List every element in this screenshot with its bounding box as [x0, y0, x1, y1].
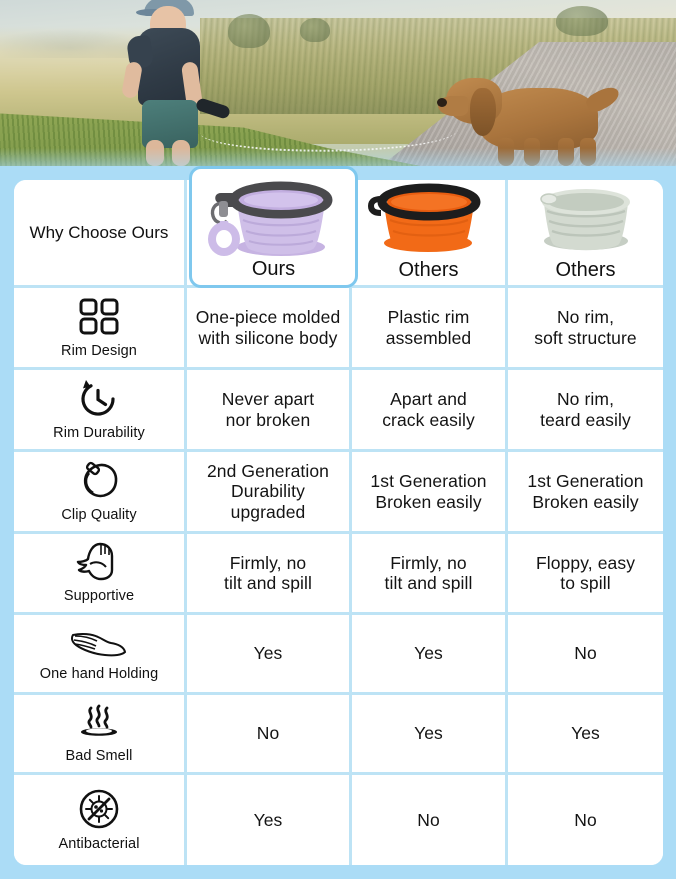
- value-text: Yes: [414, 723, 443, 743]
- value-text: Firmly, notilt and spill: [385, 553, 473, 594]
- value-cell: Firmly, notilt and spill: [187, 534, 352, 615]
- value-cell: One-piece moldedwith silicone body: [187, 288, 352, 370]
- value-text: 2nd GenerationDurabilityupgraded: [207, 461, 329, 522]
- photo-bottom-fade: [0, 148, 676, 166]
- value-text: 1st GenerationBroken easily: [527, 471, 643, 512]
- header-column-others-2: Others: [508, 180, 663, 288]
- value-cell: No: [508, 615, 663, 695]
- flexed-bicep-icon: [76, 542, 122, 582]
- value-cell: No rim,teard easily: [508, 370, 663, 452]
- value-cell: Yes: [187, 615, 352, 695]
- value-text: No: [574, 643, 597, 663]
- column-label: Ours: [252, 258, 295, 281]
- tree: [556, 6, 608, 36]
- feature-label: Bad Smell: [66, 748, 133, 764]
- feature-label: One hand Holding: [40, 666, 159, 682]
- value-cell: Floppy, easyto spill: [508, 534, 663, 615]
- value-cell: No: [508, 775, 663, 865]
- value-text: One-piece moldedwith silicone body: [196, 307, 341, 348]
- value-cell: 2nd GenerationDurabilityupgraded: [187, 452, 352, 534]
- value-cell: No: [352, 775, 508, 865]
- feature-cell-supportive: Supportive: [14, 534, 187, 615]
- feature-label: Clip Quality: [61, 507, 136, 523]
- highlighted-column-ours[interactable]: Ours: [189, 166, 358, 288]
- column-label: Others: [555, 259, 615, 282]
- bacteria-slash-icon: [77, 788, 121, 830]
- value-cell: Firmly, notilt and spill: [352, 534, 508, 615]
- feature-cell-bad-smell: Bad Smell: [14, 695, 187, 775]
- orange-bowl-image: [365, 183, 493, 257]
- value-text: No rim,soft structure: [534, 307, 637, 348]
- feature-cell-one-hand-holding: One hand Holding: [14, 615, 187, 695]
- value-text: No rim,teard easily: [540, 389, 631, 430]
- carabiner-icon: [76, 461, 122, 501]
- feature-cell-clip-quality: Clip Quality: [14, 452, 187, 534]
- value-cell: Yes: [352, 695, 508, 775]
- value-text: Never apartnor broken: [222, 389, 315, 430]
- value-cell: Yes: [352, 615, 508, 695]
- purple-bowl-image: [192, 173, 355, 265]
- value-text: Yes: [414, 643, 443, 663]
- value-cell: Never apartnor broken: [187, 370, 352, 452]
- value-text: No: [257, 723, 280, 743]
- value-cell: Plastic rimassembled: [352, 288, 508, 370]
- feature-cell-rim-design: Rim Design: [14, 288, 187, 370]
- header-feature-cell: Why Choose Ours: [14, 180, 187, 288]
- gray-bowl-image: [522, 183, 650, 257]
- four-squares-icon: [78, 297, 120, 337]
- feature-label: Supportive: [64, 588, 134, 604]
- value-text: Floppy, easyto spill: [536, 553, 635, 594]
- value-cell: Yes: [187, 775, 352, 865]
- dog-nose: [437, 98, 447, 107]
- feature-label: Antibacterial: [58, 836, 139, 852]
- value-text: Firmly, notilt and spill: [224, 553, 312, 594]
- value-text: Yes: [254, 810, 283, 830]
- value-text: Yes: [254, 643, 283, 663]
- comparison-infographic: Why Choose Ours Others: [0, 0, 676, 879]
- hero-photo: [0, 0, 676, 166]
- feature-cell-antibacterial: Antibacterial: [14, 775, 187, 865]
- value-cell: Apart andcrack easily: [352, 370, 508, 452]
- value-text: No: [417, 810, 440, 830]
- value-cell: No rim,soft structure: [508, 288, 663, 370]
- header-column-others-1: Others: [352, 180, 508, 288]
- value-cell: No: [187, 695, 352, 775]
- steam-waves-icon: [77, 704, 121, 742]
- column-label: Others: [398, 259, 458, 282]
- value-cell: 1st GenerationBroken easily: [352, 452, 508, 534]
- value-cell: Yes: [508, 695, 663, 775]
- value-text: No: [574, 810, 597, 830]
- comparison-table-wrapper: Why Choose Ours Others: [14, 180, 663, 865]
- page-title: Why Choose Ours: [30, 223, 169, 243]
- value-text: Yes: [571, 723, 600, 743]
- feature-label: Rim Design: [61, 343, 137, 359]
- feature-cell-rim-durability: Rim Durability: [14, 370, 187, 452]
- tree: [300, 18, 330, 42]
- value-text: Apart andcrack easily: [382, 389, 475, 430]
- open-palm-icon: [70, 626, 128, 660]
- value-text: Plastic rimassembled: [386, 307, 472, 348]
- value-text: 1st GenerationBroken easily: [370, 471, 486, 512]
- value-cell: 1st GenerationBroken easily: [508, 452, 663, 534]
- feature-label: Rim Durability: [53, 425, 145, 441]
- dog-tail: [584, 83, 622, 115]
- purple-bowl-svg: [199, 173, 349, 265]
- clock-arrow-icon: [77, 379, 121, 419]
